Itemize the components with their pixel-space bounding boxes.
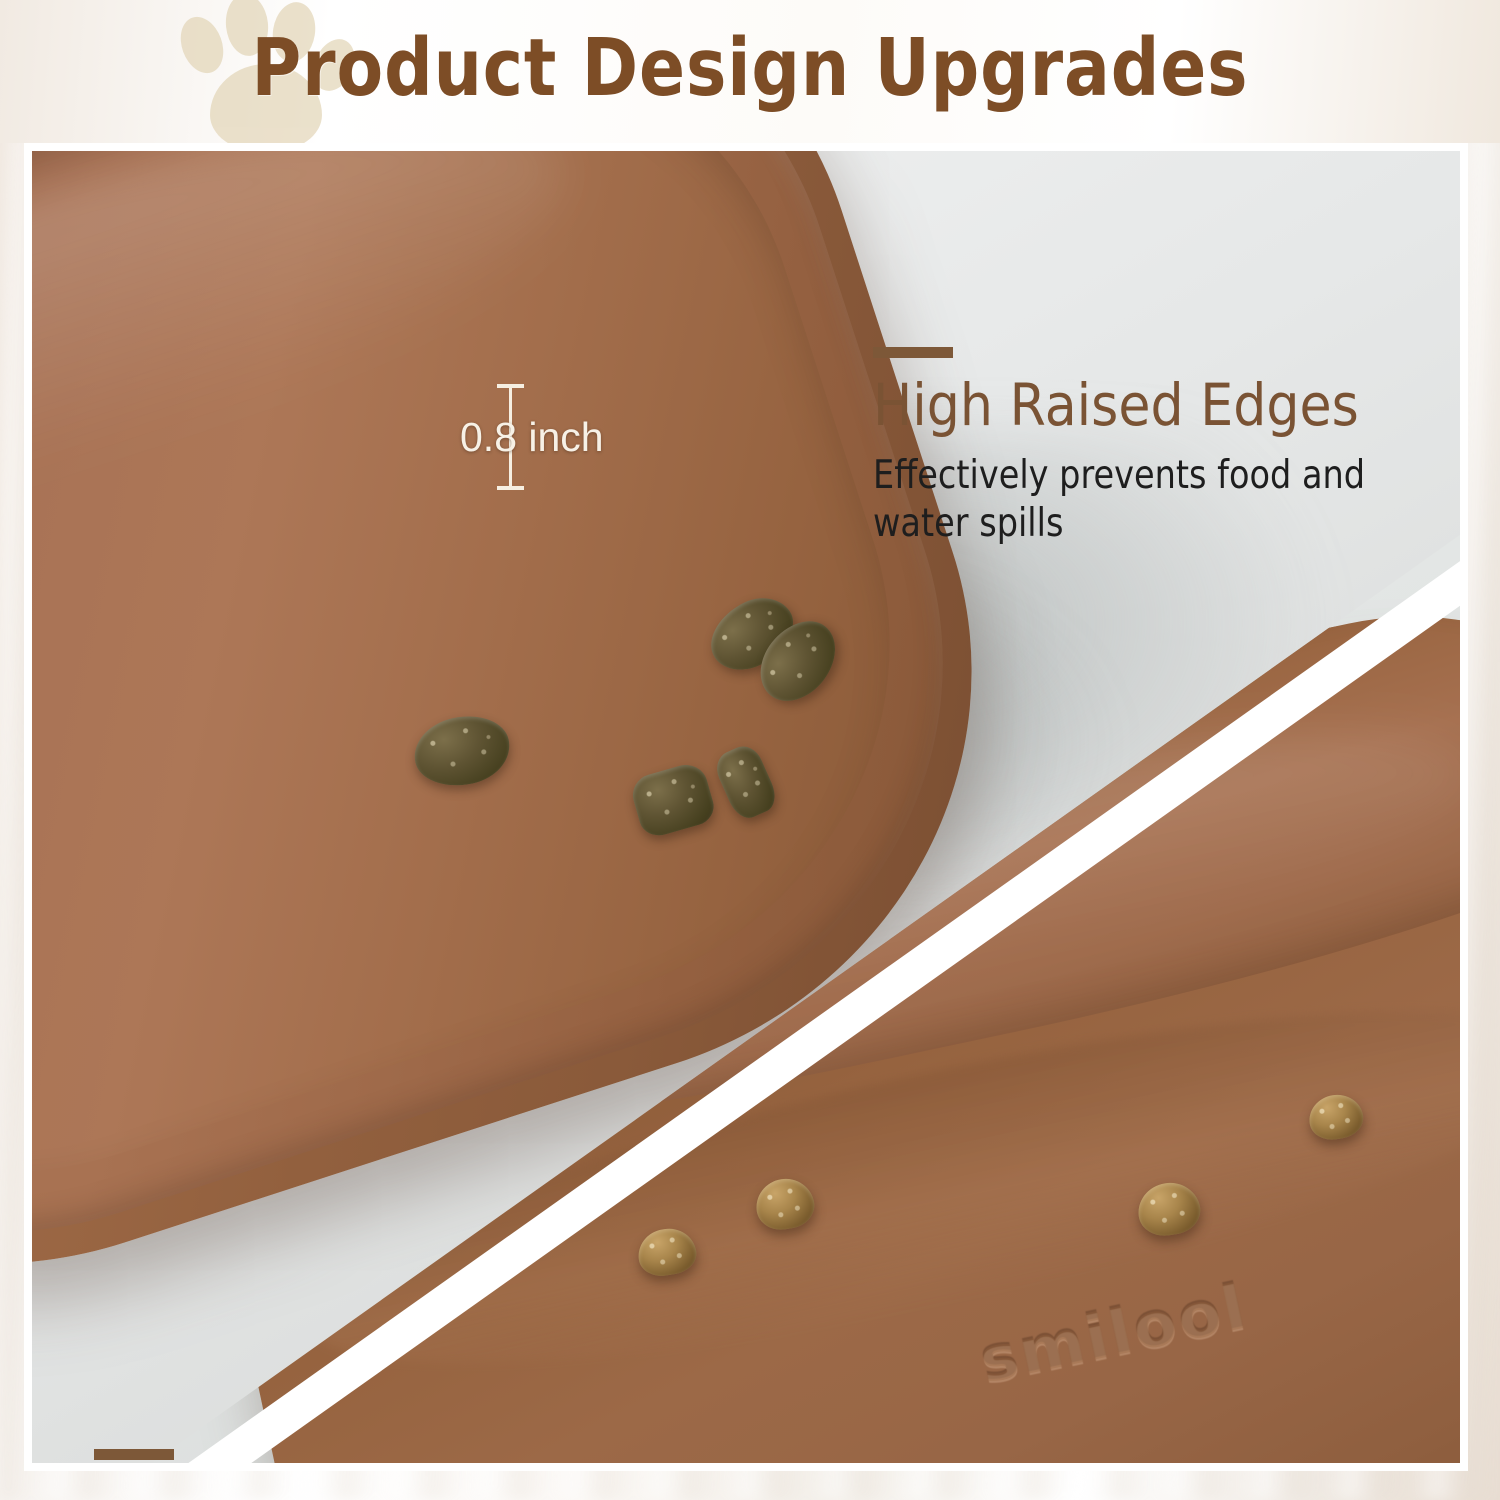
header-banner: Product Design Upgrades — [0, 0, 1500, 143]
callout-subtitle: Effectively prevents food and water spil… — [873, 452, 1378, 548]
product-photo-frame: 0.8 inch smilool — [24, 143, 1468, 1471]
accent-dash-icon — [94, 1449, 174, 1460]
callout-high-raised-edges: High Raised Edges Effectively prevents f… — [873, 347, 1460, 548]
accent-dash-icon — [873, 347, 953, 358]
page-title: Product Design Upgrades — [105, 20, 1395, 116]
callout-keeping-floor-clean: Keeping the floor clean Minimizes time s… — [94, 1449, 1089, 1463]
dimension-label: 0.8 inch — [460, 414, 604, 461]
callout-title: High Raised Edges — [873, 372, 1401, 438]
product-infographic: Product Design Upgrades 0.8 inch — [0, 0, 1500, 1500]
product-photo: 0.8 inch smilool — [32, 151, 1460, 1463]
